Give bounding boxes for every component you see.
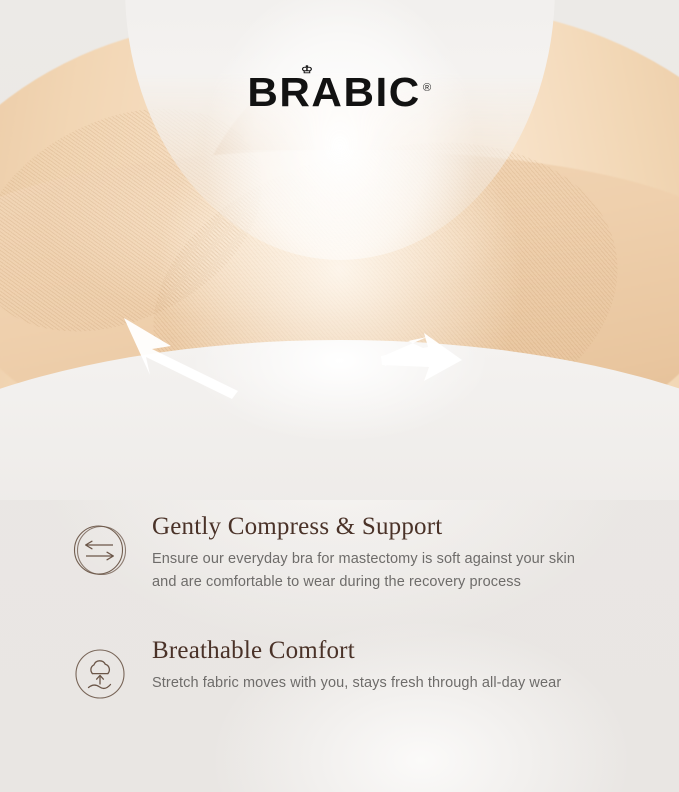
brand-suffix: BIC xyxy=(344,69,421,115)
brand-prefix: BR xyxy=(248,69,312,115)
brand-logo: BRA♔BIC® xyxy=(0,72,679,113)
feature-description-line: Stretch fabric moves with you, stays fre… xyxy=(152,672,561,695)
brand-accent-letter: A xyxy=(312,69,344,115)
feature-text-compress: Gently Compress & Support Ensure our eve… xyxy=(128,512,575,594)
feature-description-line: and are comfortable to wear during the r… xyxy=(152,571,575,594)
registered-trademark-icon: ® xyxy=(423,82,431,94)
feature-title: Breathable Comfort xyxy=(152,636,561,666)
feature-item-compress: Gently Compress & Support Ensure our eve… xyxy=(0,512,679,594)
feature-text-breathable: Breathable Comfort Stretch fabric moves … xyxy=(128,636,561,695)
feature-list: Gently Compress & Support Ensure our eve… xyxy=(0,512,679,702)
brand-wordmark: BRA♔BIC® xyxy=(248,72,432,113)
compress-arrows-icon xyxy=(72,522,128,578)
breathable-cloud-icon xyxy=(72,646,128,702)
stretch-arrow-right xyxy=(381,333,462,381)
product-feature-graphic: BRA♔BIC® Gently Compress & Support Ensur… xyxy=(0,0,679,792)
stretch-arrow-left xyxy=(124,318,238,399)
crown-icon: ♔ xyxy=(301,64,315,74)
feature-description: Stretch fabric moves with you, stays fre… xyxy=(152,672,561,695)
feature-title: Gently Compress & Support xyxy=(152,512,575,542)
feature-description: Ensure our everyday bra for mastectomy i… xyxy=(152,548,575,595)
feature-description-line: Ensure our everyday bra for mastectomy i… xyxy=(152,548,575,571)
feature-item-breathable: Breathable Comfort Stretch fabric moves … xyxy=(0,636,679,702)
